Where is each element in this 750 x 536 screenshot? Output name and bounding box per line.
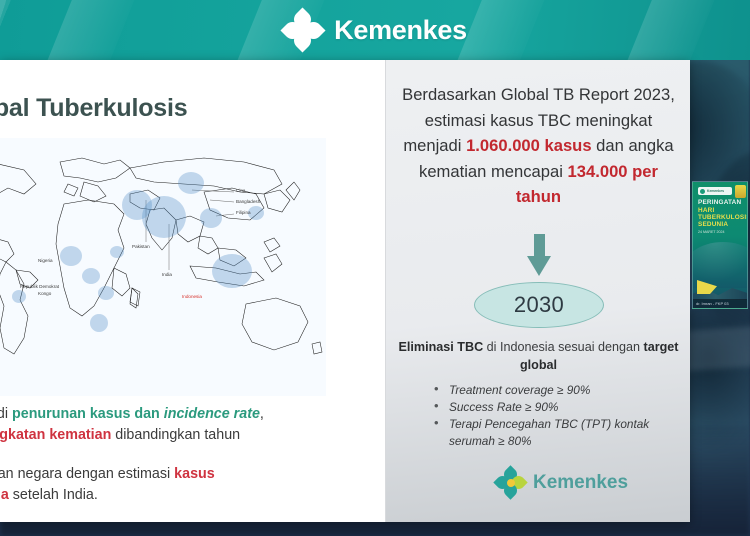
elim-strong-1: Eliminasi TBC <box>398 340 483 354</box>
body-paragraph-line-3: erupakan negara dengan estimasi kasus <box>0 464 215 485</box>
thumbnail-caption: dr. Imran - FKP 03 <box>693 299 748 308</box>
presentation-banner: Kemenkes <box>0 0 750 60</box>
target-bullet-list: Treatment coverage ≥ 90% Success Rate ≥ … <box>432 382 677 450</box>
kemenkes-flower-logo-icon <box>700 189 705 194</box>
slide-right-panel: Berdasarkan Global TB Report 2023, estim… <box>385 60 690 522</box>
p2-seg-red: peningkatan kematian <box>0 427 111 443</box>
p3-seg-red: kasus <box>174 466 215 482</box>
burden-hotspot <box>82 268 100 284</box>
lead-highlight-cases: 1.060.000 kasus <box>466 136 591 155</box>
list-item: Treatment coverage ≥ 90% <box>432 382 677 399</box>
thumbnail-date: 24 MARET 2024 <box>698 230 725 234</box>
p1-seg-b: , <box>260 406 264 422</box>
map-label-cina: Cina <box>236 188 245 193</box>
panel-lead-text: Berdasarkan Global TB Report 2023, estim… <box>396 82 681 210</box>
map-label-kongo-2: Kongo <box>38 291 51 296</box>
page-title: lobal Tuberkulosis <box>0 94 187 123</box>
map-label-filipina: Filipina <box>236 210 251 215</box>
panel-footer-logo: Kemenkes <box>496 468 628 498</box>
p2-seg-b: dibandingkan tahun <box>111 427 240 443</box>
burden-hotspot <box>12 290 26 303</box>
map-label-pakistan: Pakistan <box>132 244 150 249</box>
p4-seg-b: setelah India. <box>9 487 98 503</box>
banner-brand: Kemenkes <box>0 0 750 60</box>
body-paragraph-line-2: i peningkatan kematian dibandingkan tahu… <box>0 425 240 446</box>
thumbnail-line-2: HARI <box>698 207 714 214</box>
kemenkes-flower-logo-icon <box>496 468 526 498</box>
banner-brand-text: Kemenkes <box>334 15 467 46</box>
target-year-badge: 2030 <box>474 282 604 328</box>
thumbnail-line-1: PERINGATAN <box>698 199 741 206</box>
slide-left-column: lobal Tuberkulosis <box>0 60 385 522</box>
target-year-label: 2030 <box>514 292 564 318</box>
map-label-nigeria: Nigeria <box>38 258 53 263</box>
p4-seg-red: di dunia <box>0 487 9 503</box>
down-arrow-icon <box>527 234 551 276</box>
body-paragraph-line-4: di dunia setelah India. <box>0 485 98 506</box>
list-item: Success Rate ≥ 90% <box>432 399 677 416</box>
world-map-image: Cina Bangladesh Filipina Pakistan India … <box>0 138 326 396</box>
kemenkes-flower-logo-icon <box>283 10 323 50</box>
burden-hotspot <box>98 286 114 300</box>
burden-hotspot <box>110 246 124 258</box>
thumbnail-line-3: TUBERKULOSIS <box>698 214 748 221</box>
map-label-indonesia: Indonesia <box>182 294 202 299</box>
thumbnail-line-4: SEDUNIA <box>698 221 728 228</box>
burden-hotspot <box>122 190 152 220</box>
body-paragraph-line-1: al terjadi penurunan kasus dan incidence… <box>0 404 264 425</box>
map-label-india: India <box>162 272 172 277</box>
thumbnail-badge-icon <box>735 185 746 198</box>
p1-seg-a: al terjadi <box>0 406 12 422</box>
burden-hotspot <box>90 314 108 332</box>
slide-surface: lobal Tuberkulosis <box>0 60 690 522</box>
burden-hotspot <box>212 254 252 288</box>
burden-hotspot <box>178 172 204 194</box>
world-map-svg <box>0 138 326 396</box>
elim-mid: di Indonesia sesuai dengan <box>483 340 643 354</box>
map-label-kongo-1: Republik Demokrat <box>20 284 59 289</box>
burden-hotspot <box>60 246 82 266</box>
thumbnail-logo: Kemenkes <box>698 187 732 195</box>
p1-seg-green: penurunan kasus dan <box>12 406 164 422</box>
participant-video-thumbnail[interactable]: Kemenkes PERINGATAN HARI TUBERKULOSIS SE… <box>692 181 748 309</box>
footer-logo-text: Kemenkes <box>533 472 628 494</box>
list-item: Terapi Pencegahan TBC (TPT) kontak serum… <box>432 416 677 449</box>
elimination-statement: Eliminasi TBC di Indonesia sesuai dengan… <box>394 338 683 374</box>
thumbnail-logo-text: Kemenkes <box>707 189 724 193</box>
p1-seg-green-italic: incidence rate <box>164 406 260 422</box>
p3-seg-a: erupakan negara dengan estimasi <box>0 466 174 482</box>
map-label-bangladesh: Bangladesh <box>236 199 260 204</box>
burden-hotspot <box>200 208 222 228</box>
